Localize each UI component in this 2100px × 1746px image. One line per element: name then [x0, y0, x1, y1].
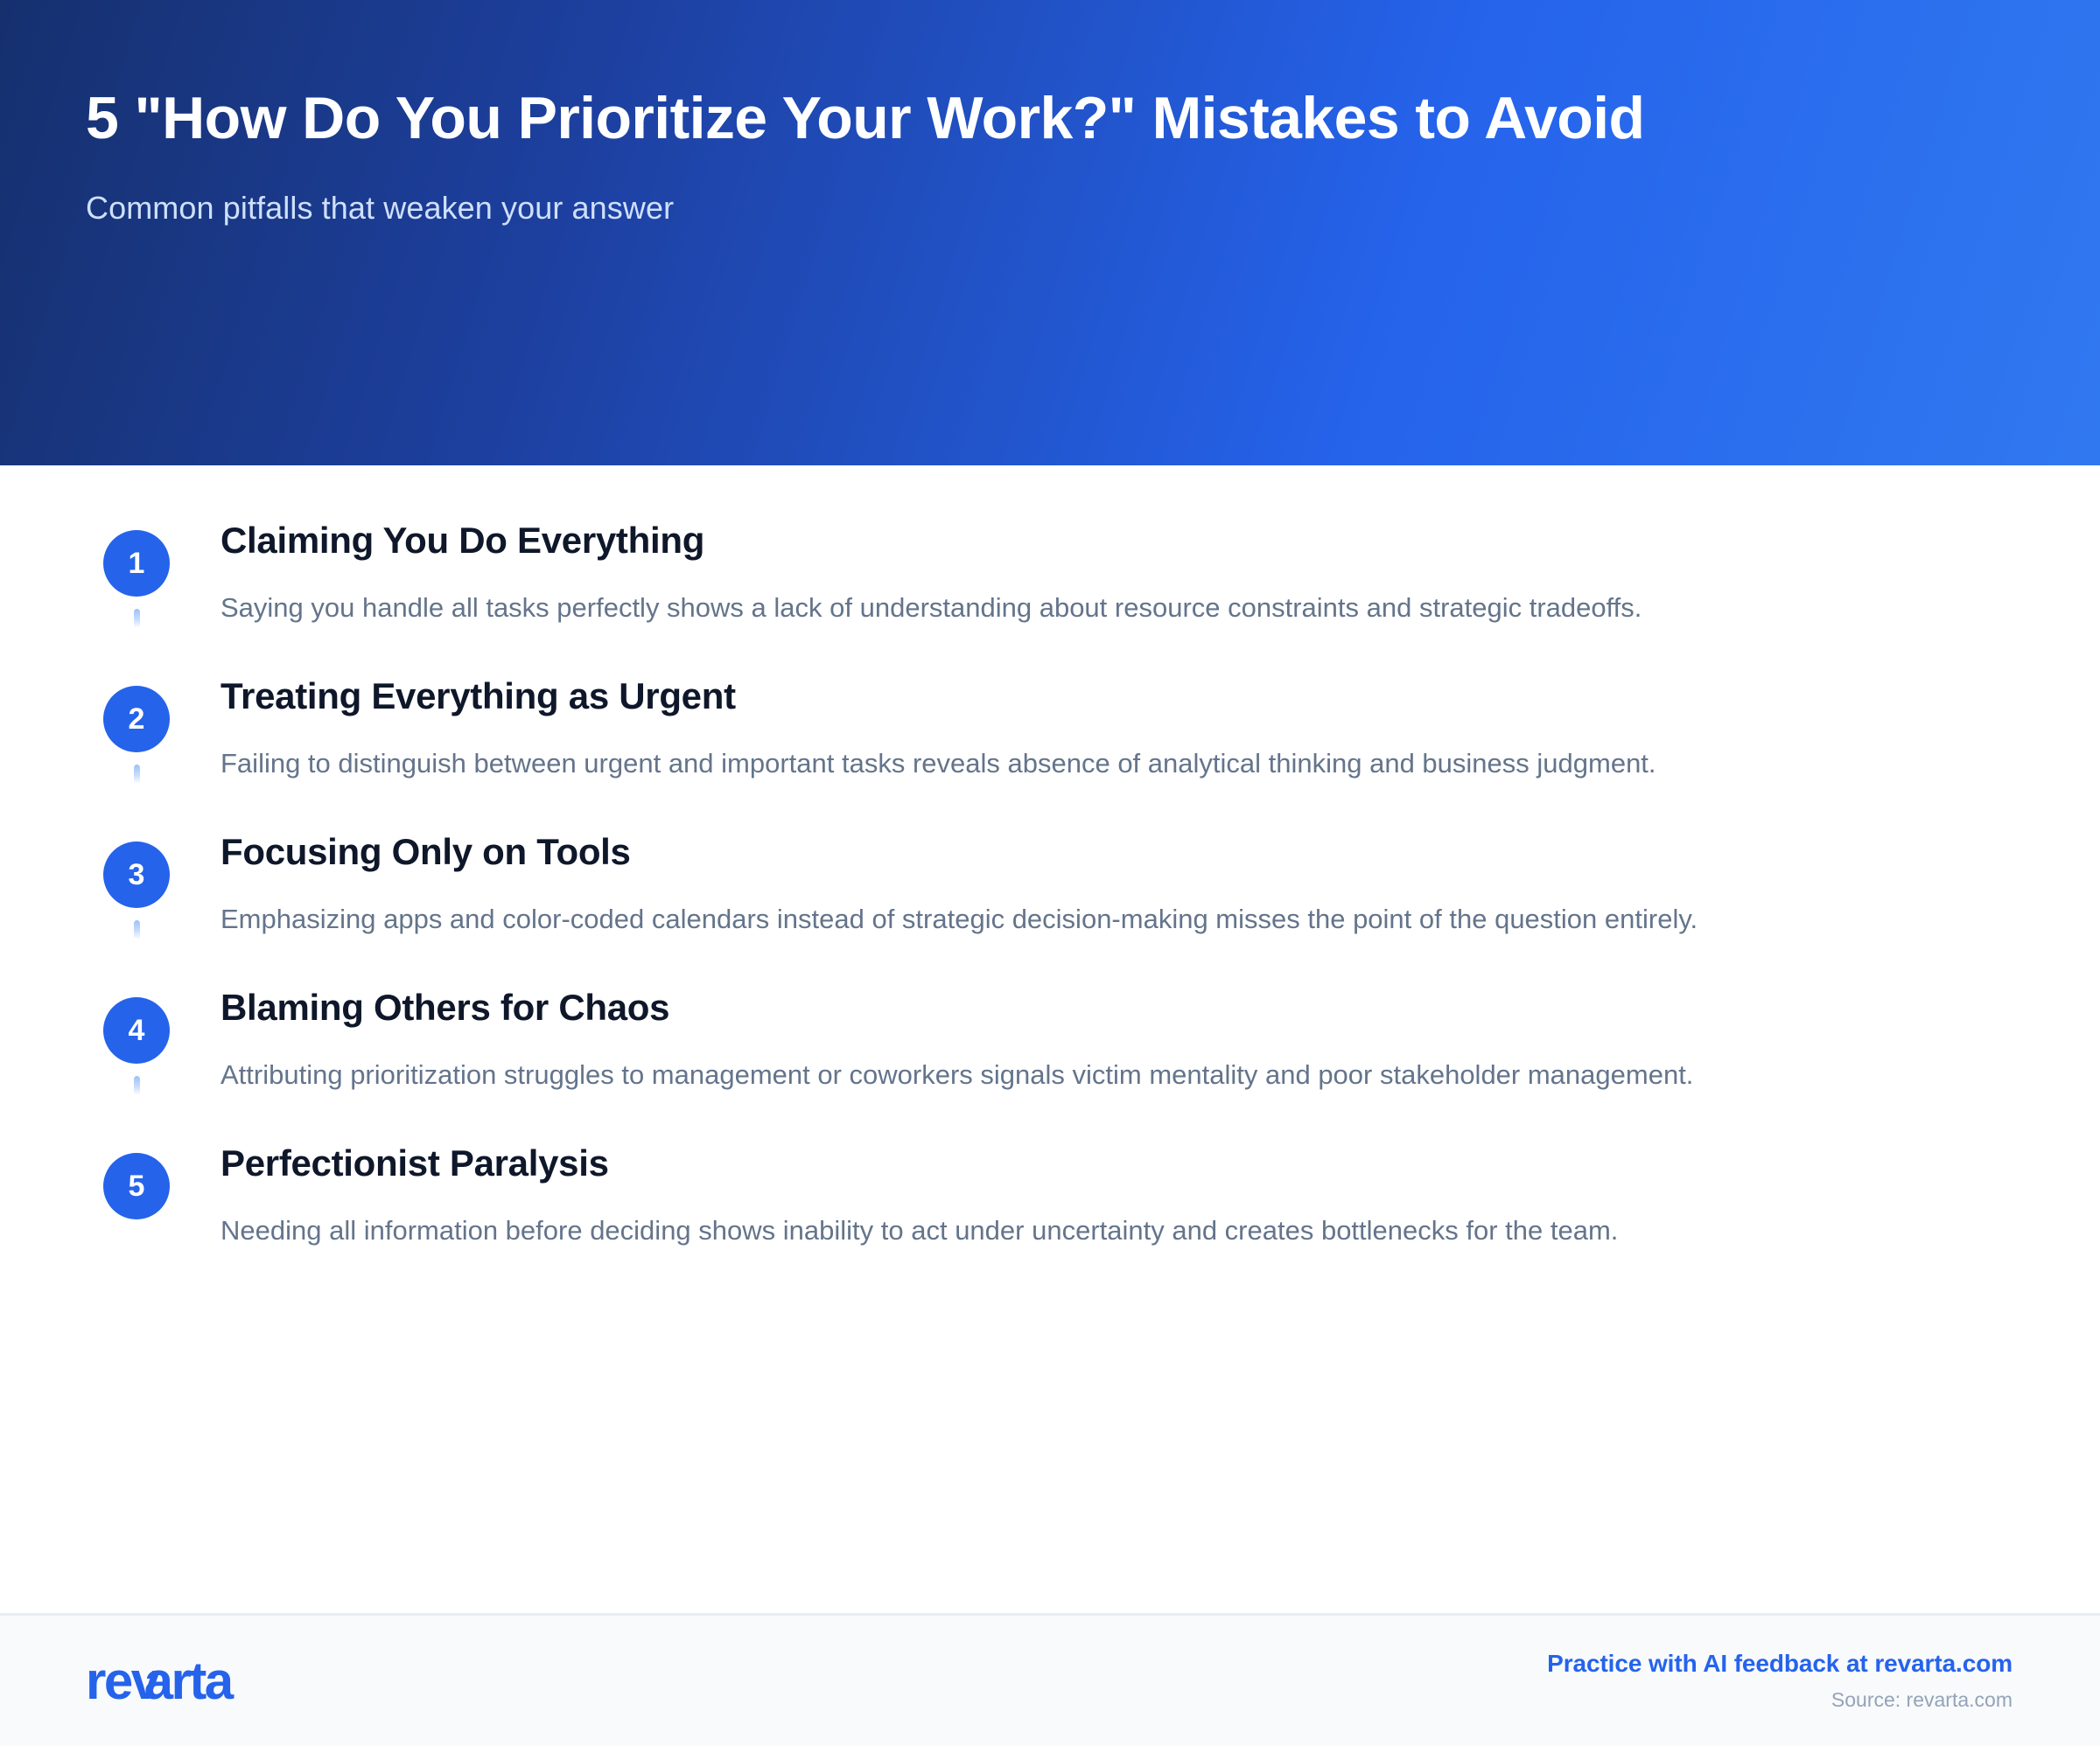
timeline-connector: [134, 609, 140, 628]
badge-column: 1: [86, 520, 187, 637]
item-description: Emphasizing apps and color-coded calenda…: [220, 898, 2012, 939]
badge-column: 2: [86, 675, 187, 793]
badge-column: 3: [86, 831, 187, 948]
footer-bar: revarta Practice with AI feedback at rev…: [0, 1613, 2100, 1746]
item-title: Blaming Others for Chaos: [220, 987, 2012, 1028]
timeline-connector: [134, 920, 140, 939]
infographic-page: 5 "How Do You Prioritize Your Work?" Mis…: [0, 0, 2100, 1746]
item-description: Attributing prioritization struggles to …: [220, 1054, 2012, 1095]
item-text-column: Claiming You Do Everything Saying you ha…: [187, 520, 2012, 628]
list-item: 3 Focusing Only on Tools Emphasizing app…: [86, 831, 2012, 987]
header-banner: 5 "How Do You Prioritize Your Work?" Mis…: [0, 0, 2100, 465]
step-number-badge: 2: [103, 686, 170, 752]
footer-source-note: Source: revarta.com: [1831, 1688, 2012, 1712]
item-title: Focusing Only on Tools: [220, 831, 2012, 872]
list-item: 1 Claiming You Do Everything Saying you …: [86, 520, 2012, 675]
revarta-logo[interactable]: revarta: [86, 1655, 232, 1708]
page-title: 5 "How Do You Prioritize Your Work?" Mis…: [86, 83, 1748, 153]
step-number-badge: 4: [103, 997, 170, 1064]
item-text-column: Blaming Others for Chaos Attributing pri…: [187, 987, 2012, 1095]
timeline-connector: [134, 765, 140, 784]
footer-cta-link[interactable]: Practice with AI feedback at revarta.com: [1547, 1650, 2012, 1678]
mistakes-list: 1 Claiming You Do Everything Saying you …: [86, 520, 2012, 1251]
content-area: 1 Claiming You Do Everything Saying you …: [0, 465, 2100, 1613]
list-item: 5 Perfectionist Paralysis Needing all in…: [86, 1142, 2012, 1251]
footer-right-column: Practice with AI feedback at revarta.com…: [1547, 1650, 2012, 1712]
step-number-badge: 3: [103, 842, 170, 908]
list-item: 2 Treating Everything as Urgent Failing …: [86, 675, 2012, 831]
step-number-badge: 5: [103, 1153, 170, 1219]
item-text-column: Focusing Only on Tools Emphasizing apps …: [187, 831, 2012, 939]
item-title: Treating Everything as Urgent: [220, 675, 2012, 716]
badge-column: 4: [86, 987, 187, 1104]
item-description: Failing to distinguish between urgent an…: [220, 743, 2012, 784]
item-text-column: Treating Everything as Urgent Failing to…: [187, 675, 2012, 784]
item-description: Needing all information before deciding …: [220, 1210, 2012, 1251]
item-text-column: Perfectionist Paralysis Needing all info…: [187, 1142, 2012, 1251]
step-number-badge: 1: [103, 530, 170, 597]
logo-text-secondary: arta: [144, 1655, 232, 1708]
item-title: Perfectionist Paralysis: [220, 1142, 2012, 1184]
item-title: Claiming You Do Everything: [220, 520, 2012, 561]
timeline-connector: [134, 1076, 140, 1095]
item-description: Saying you handle all tasks perfectly sh…: [220, 587, 2012, 628]
page-subtitle: Common pitfalls that weaken your answer: [86, 190, 2012, 227]
list-item: 4 Blaming Others for Chaos Attributing p…: [86, 987, 2012, 1142]
badge-column: 5: [86, 1142, 187, 1251]
